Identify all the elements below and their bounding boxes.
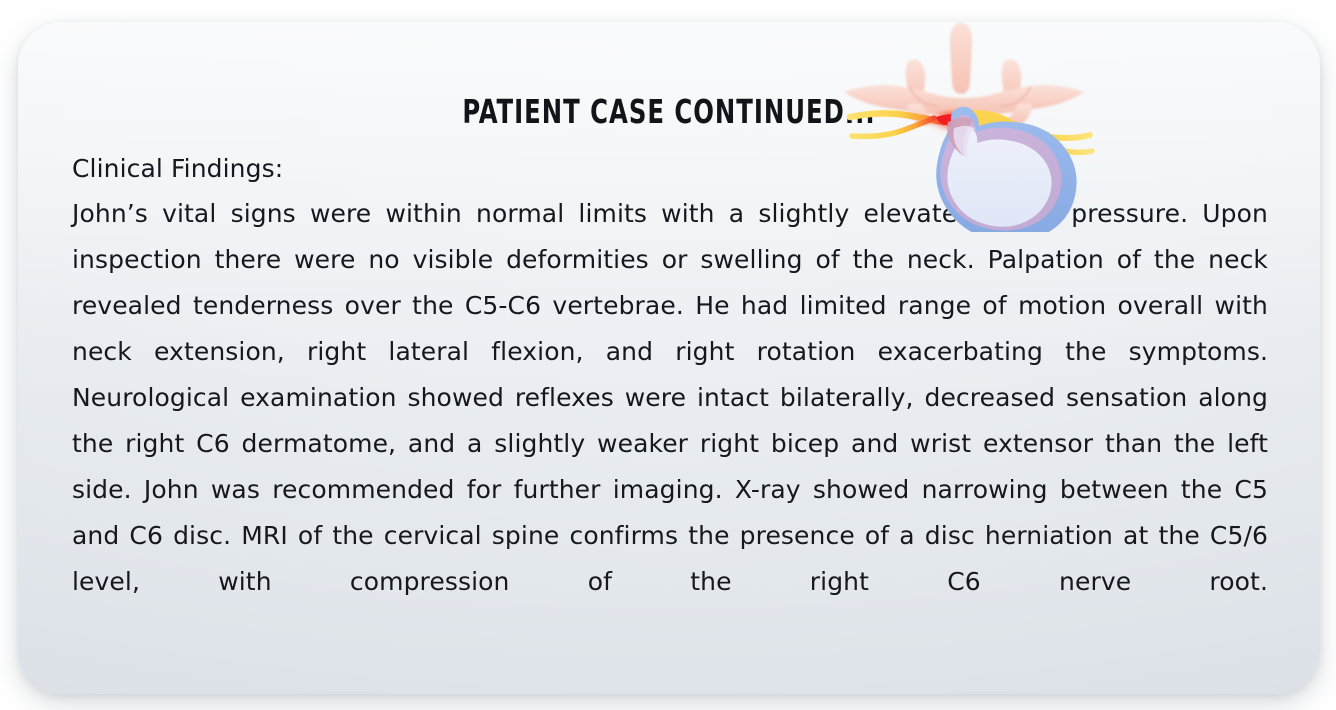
clinical-findings-paragraph: John’s vital signs were within normal li… bbox=[72, 191, 1268, 651]
case-body-block: Clinical Findings: John’s vital signs we… bbox=[72, 154, 1268, 651]
clinical-findings-label: Clinical Findings: bbox=[72, 154, 1268, 183]
spinal-nerve-root-right-branch bbox=[1022, 134, 1092, 152]
spinous-process bbox=[950, 23, 972, 95]
page-title: PATIENT CASE CONTINUED... bbox=[135, 92, 1203, 131]
slide-card: PATIENT CASE CONTINUED... Clinical Findi… bbox=[18, 22, 1320, 694]
